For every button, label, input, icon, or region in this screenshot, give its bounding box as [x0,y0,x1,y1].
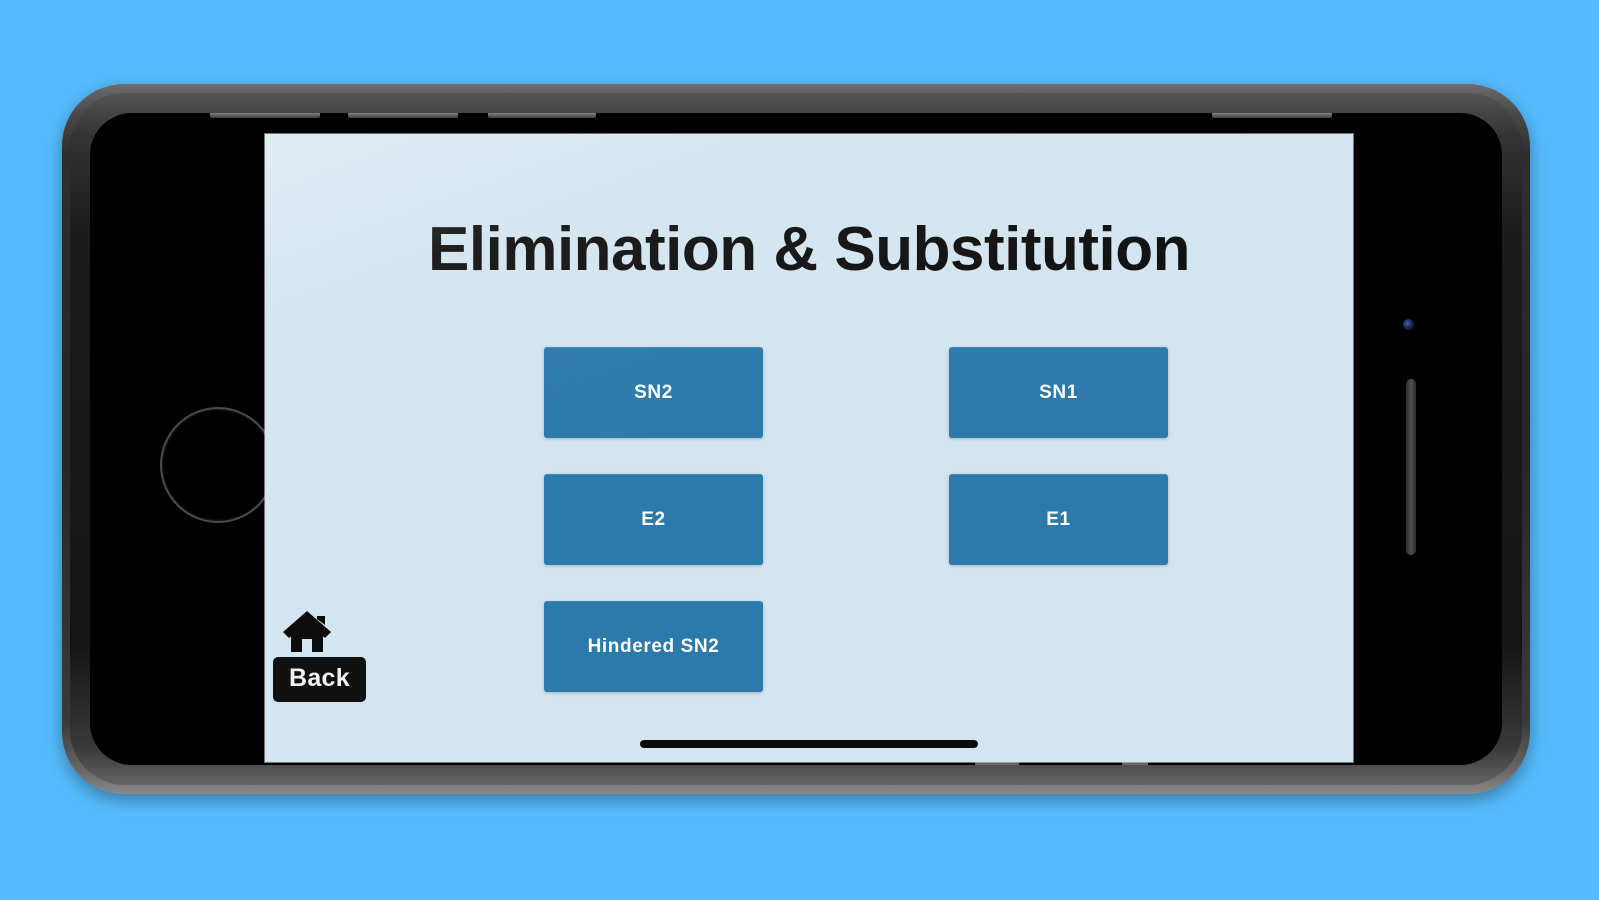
home-indicator-bar [640,740,978,748]
button-row-3: Hindered SN2 [544,601,1168,692]
back-control[interactable]: Back [273,607,395,702]
button-e2[interactable]: E2 [544,474,763,565]
button-sn1[interactable]: SN1 [949,347,1168,438]
button-row-1: SN2 SN1 [544,347,1168,438]
page-title: Elimination & Substitution [265,214,1353,285]
phone-bezel: Elimination & Substitution SN2 SN1 E2 E1… [90,113,1502,765]
phone-rim: Elimination & Substitution SN2 SN1 E2 E1… [70,93,1522,785]
volume-down-button[interactable] [488,113,596,118]
power-button[interactable] [1212,113,1332,118]
camera-icon [1403,319,1414,330]
button-e1[interactable]: E1 [949,474,1168,565]
back-button-label[interactable]: Back [273,657,366,702]
speaker-grille [1406,379,1416,555]
button-row-2: E2 E1 [544,474,1168,565]
reaction-button-grid: SN2 SN1 E2 E1 Hindered SN2 [544,347,1168,728]
home-button[interactable] [160,407,276,523]
app-screen: Elimination & Substitution SN2 SN1 E2 E1… [265,134,1353,762]
silent-switch[interactable] [210,113,320,118]
button-hindered-sn2[interactable]: Hindered SN2 [544,601,763,692]
volume-up-button[interactable] [348,113,458,118]
button-sn2[interactable]: SN2 [544,347,763,438]
home-icon[interactable] [281,607,333,655]
phone-device: Elimination & Substitution SN2 SN1 E2 E1… [62,84,1530,794]
